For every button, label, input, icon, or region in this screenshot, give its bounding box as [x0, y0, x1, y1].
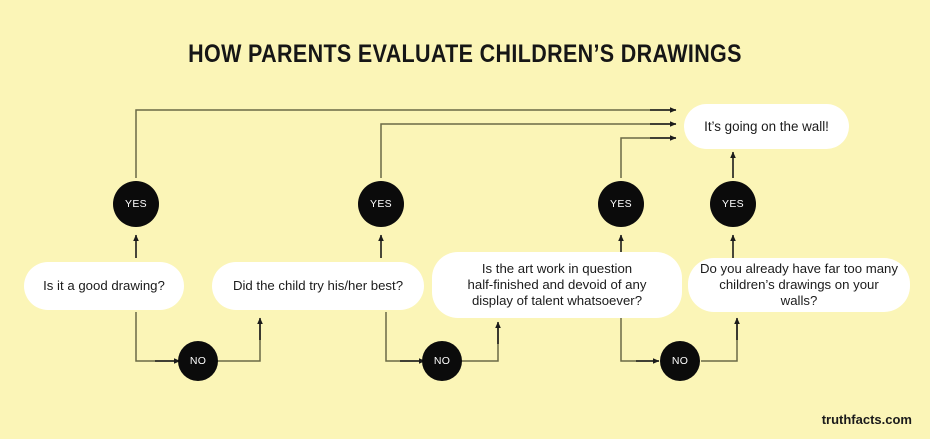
no-circle-3[interactable]: NO: [660, 341, 700, 381]
yes-label-2: YES: [370, 198, 392, 210]
question-text-4-line-2: children’s drawings on your walls?: [719, 277, 879, 308]
yes-label-4: YES: [722, 198, 744, 210]
result-text: It’s going on the wall!: [704, 119, 829, 135]
yes-circle-3[interactable]: YES: [598, 181, 644, 227]
flowchart-canvas: HOW PARENTS EVALUATE CHILDREN’S DRAWINGS: [0, 0, 930, 439]
question-text-3-line-2: half-finished and devoid of any: [468, 277, 647, 292]
site-credit[interactable]: truthfacts.com: [822, 412, 912, 427]
question-text-1: Is it a good drawing?: [43, 278, 165, 294]
question-text-4-line-1: Do you already have far too many: [700, 261, 898, 276]
yes-circle-2[interactable]: YES: [358, 181, 404, 227]
yes-circle-4[interactable]: YES: [710, 181, 756, 227]
question-box-1[interactable]: Is it a good drawing?: [24, 262, 184, 310]
question-box-2[interactable]: Did the child try his/her best?: [212, 262, 424, 310]
question-box-3[interactable]: Is the art work in question half-finishe…: [432, 252, 682, 318]
question-text-3: Is the art work in question half-finishe…: [468, 261, 647, 309]
no-label-2: NO: [434, 355, 450, 367]
no-label-3: NO: [672, 355, 688, 367]
yes-circle-1[interactable]: YES: [113, 181, 159, 227]
question-box-4[interactable]: Do you already have far too many childre…: [688, 258, 910, 312]
no-circle-1[interactable]: NO: [178, 341, 218, 381]
question-text-3-line-3: display of talent whatsoever?: [472, 293, 642, 308]
result-box[interactable]: It’s going on the wall!: [684, 104, 849, 149]
yes-label-3: YES: [610, 198, 632, 210]
question-text-4: Do you already have far too many childre…: [700, 261, 898, 309]
question-text-2: Did the child try his/her best?: [233, 278, 403, 294]
question-text-3-line-1: Is the art work in question: [482, 261, 632, 276]
yes-label-1: YES: [125, 198, 147, 210]
no-label-1: NO: [190, 355, 206, 367]
no-circle-2[interactable]: NO: [422, 341, 462, 381]
